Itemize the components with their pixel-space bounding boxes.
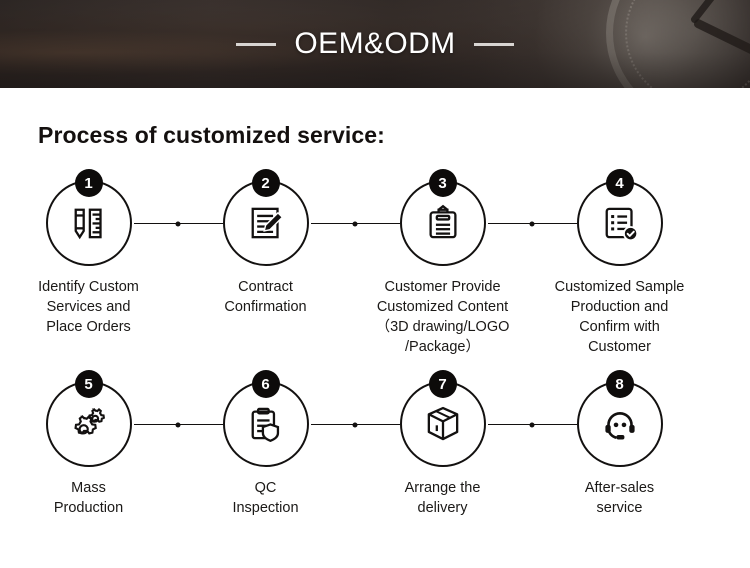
banner-title: OEM&ODM: [294, 27, 455, 61]
document-pencil-icon: [240, 197, 292, 249]
step-node-3: 3: [400, 180, 486, 266]
clipboard-shield-icon: [240, 398, 292, 450]
page-banner: OEM&ODM: [0, 0, 750, 88]
dash-right-icon: [474, 43, 514, 46]
process-step-1[interactable]: 1 Identify Custom Services and: [0, 180, 177, 357]
step-connector-3: [488, 223, 577, 224]
step-connector-1: [134, 223, 223, 224]
headset-support-icon: [594, 398, 646, 450]
step-connector-7: [488, 424, 577, 425]
step-badge-6: 6: [252, 370, 280, 398]
connector-dot: [530, 422, 535, 427]
process-row-top: 1 Identify Custom Services and: [0, 180, 750, 357]
process-step-6[interactable]: 6 QC Inspection: [177, 381, 354, 518]
dash-left-icon: [236, 43, 276, 46]
step-caption-2: Contract Confirmation: [178, 277, 354, 317]
gears-icon: [63, 398, 115, 450]
checklist-check-icon: [594, 197, 646, 249]
connector-dot: [176, 422, 181, 427]
package-box-icon: [417, 398, 469, 450]
step-connector-2: [311, 223, 400, 224]
step-badge-2: 2: [252, 169, 280, 197]
step-caption-7: Arrange the delivery: [355, 478, 531, 518]
connector-dot: [353, 422, 358, 427]
step-connector-5: [134, 424, 223, 425]
step-badge-1: 1: [75, 169, 103, 197]
connector-dot: [353, 221, 358, 226]
step-badge-4: 4: [606, 169, 634, 197]
process-step-3[interactable]: 3 Customer Provide Customized Content （3…: [354, 180, 531, 357]
connector-dot: [176, 221, 181, 226]
step-node-8: 8: [577, 381, 663, 467]
oem-odm-process-page: OEM&ODM Process of customized service: 1: [0, 0, 750, 568]
page-title: Process of customized service:: [38, 122, 385, 149]
step-caption-1: Identify Custom Services and Place Order…: [1, 277, 177, 337]
step-badge-7: 7: [429, 370, 457, 398]
process-step-4[interactable]: 4 Customized Sample Production: [531, 180, 708, 357]
process-step-5[interactable]: 5 Mass Production: [0, 381, 177, 518]
process-row-bottom: 5 Mass Production: [0, 381, 750, 518]
step-node-5: 5: [46, 381, 132, 467]
connector-dot: [530, 221, 535, 226]
step-node-6: 6: [223, 381, 309, 467]
step-badge-8: 8: [606, 370, 634, 398]
step-caption-6: QC Inspection: [178, 478, 354, 518]
step-caption-5: Mass Production: [1, 478, 177, 518]
step-node-7: 7: [400, 381, 486, 467]
step-node-2: 2: [223, 180, 309, 266]
step-caption-3: Customer Provide Customized Content （3D …: [355, 277, 531, 357]
step-node-4: 4: [577, 180, 663, 266]
step-badge-3: 3: [429, 169, 457, 197]
process-step-2[interactable]: 2 Contract Confirmation: [177, 180, 354, 357]
banner-content: OEM&ODM: [0, 0, 750, 88]
step-badge-5: 5: [75, 370, 103, 398]
step-caption-4: Customized Sample Production and Confirm…: [532, 277, 708, 357]
step-node-1: 1: [46, 180, 132, 266]
process-step-7[interactable]: 7 Arrange the delivery: [354, 381, 531, 518]
clipboard-icon: [417, 197, 469, 249]
step-caption-8: After-sales service: [532, 478, 708, 518]
pencil-ruler-icon: [63, 197, 115, 249]
step-connector-6: [311, 424, 400, 425]
process-step-8[interactable]: 8 After-sales service: [531, 381, 708, 518]
